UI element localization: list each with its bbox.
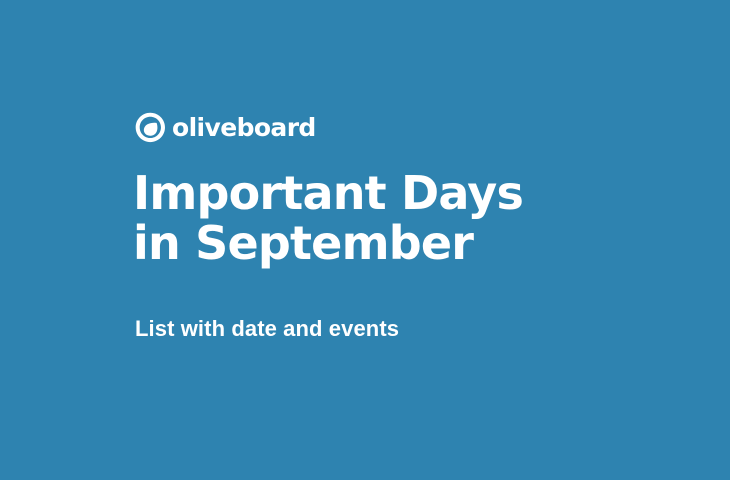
page-title-line-2: in September: [133, 218, 653, 268]
brand-logo[interactable]: oliveboard: [135, 110, 316, 144]
page-subtitle: List with date and events: [135, 315, 399, 343]
page-title-line-1: Important Days: [133, 168, 653, 218]
poster-canvas: oliveboard Important Days in September L…: [0, 0, 730, 480]
oliveboard-droplet-logo-icon: [135, 112, 166, 143]
page-title: Important Days in September: [133, 168, 653, 268]
brand-wordmark: oliveboard: [172, 115, 316, 140]
